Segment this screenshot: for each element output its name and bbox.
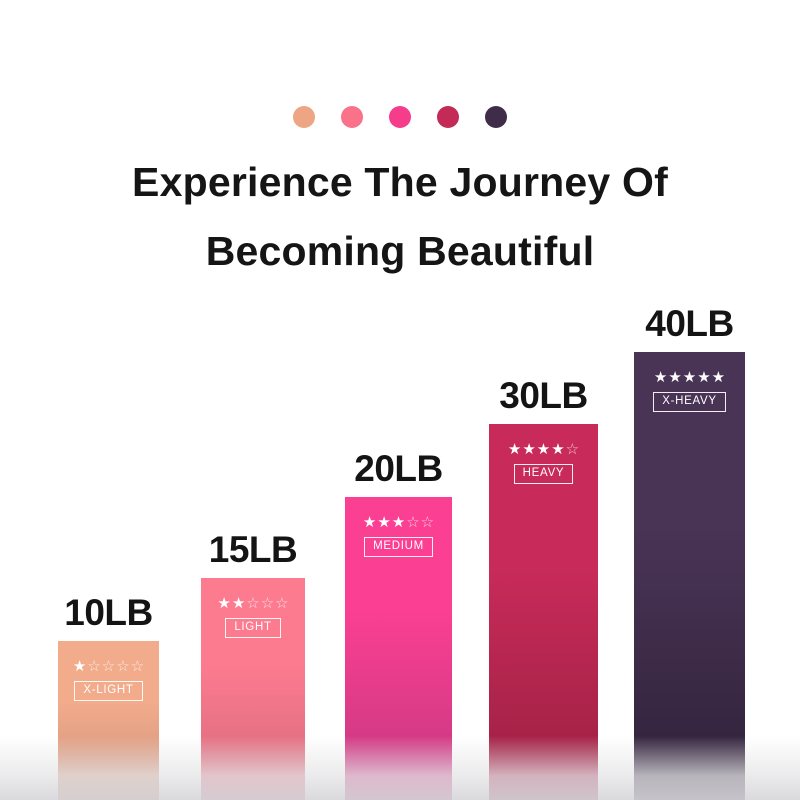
strength-badge: X-LIGHT (74, 681, 142, 701)
strength-badge: HEAVY (514, 464, 574, 484)
star-empty-icon: ☆ (421, 515, 434, 530)
bar-content: ★★★★★X-HEAVY (634, 370, 745, 412)
bar-20lb[interactable]: ★★★☆☆MEDIUM (345, 497, 452, 800)
bar-10lb[interactable]: ★☆☆☆☆X-LIGHT (58, 641, 159, 800)
star-filled-icon: ★ (217, 596, 230, 611)
star-filled-icon: ★ (508, 442, 521, 457)
star-empty-icon: ☆ (131, 659, 144, 674)
star-rating: ★★☆☆☆ (217, 596, 288, 611)
bar-content: ★★☆☆☆LIGHT (201, 596, 305, 638)
bar-value-label: 20LB (354, 450, 442, 487)
star-filled-icon: ★ (683, 370, 696, 385)
star-rating: ★★★☆☆ (363, 515, 434, 530)
star-rating: ★★★★☆ (508, 442, 579, 457)
star-empty-icon: ☆ (102, 659, 115, 674)
strength-badge: X-HEAVY (653, 392, 726, 412)
star-filled-icon: ★ (551, 442, 564, 457)
star-empty-icon: ☆ (87, 659, 100, 674)
star-filled-icon: ★ (654, 370, 667, 385)
bar-content: ★★★☆☆MEDIUM (345, 515, 452, 557)
promo-banner: Experience The Journey Of Becoming Beaut… (0, 0, 800, 800)
bar-content: ★★★★☆HEAVY (489, 442, 598, 484)
bar-content: ★☆☆☆☆X-LIGHT (58, 659, 159, 701)
star-filled-icon: ★ (712, 370, 725, 385)
strength-badge: MEDIUM (364, 537, 433, 557)
resistance-bar-chart: 10LB★☆☆☆☆X-LIGHT15LB★★☆☆☆LIGHT20LB★★★☆☆M… (0, 0, 800, 800)
bar-value-label: 40LB (645, 305, 733, 342)
star-empty-icon: ☆ (275, 596, 288, 611)
star-rating: ★★★★★ (654, 370, 725, 385)
bar-15lb[interactable]: ★★☆☆☆LIGHT (201, 578, 305, 800)
star-filled-icon: ★ (697, 370, 710, 385)
star-filled-icon: ★ (537, 442, 550, 457)
star-empty-icon: ☆ (261, 596, 274, 611)
star-filled-icon: ★ (232, 596, 245, 611)
star-empty-icon: ☆ (406, 515, 419, 530)
star-empty-icon: ☆ (246, 596, 259, 611)
star-filled-icon: ★ (392, 515, 405, 530)
star-rating: ★☆☆☆☆ (73, 659, 144, 674)
bar-30lb[interactable]: ★★★★☆HEAVY (489, 424, 598, 800)
bar-group: 10LB★☆☆☆☆X-LIGHT (58, 641, 159, 800)
star-filled-icon: ★ (73, 659, 86, 674)
bar-group: 20LB★★★☆☆MEDIUM (345, 497, 452, 800)
bar-group: 40LB★★★★★X-HEAVY (634, 352, 745, 800)
star-empty-icon: ☆ (116, 659, 129, 674)
star-filled-icon: ★ (668, 370, 681, 385)
bar-group: 15LB★★☆☆☆LIGHT (201, 578, 305, 800)
star-filled-icon: ★ (363, 515, 376, 530)
star-empty-icon: ☆ (566, 442, 579, 457)
bar-value-label: 30LB (499, 377, 587, 414)
star-filled-icon: ★ (377, 515, 390, 530)
bar-value-label: 15LB (209, 531, 297, 568)
star-filled-icon: ★ (522, 442, 535, 457)
bar-value-label: 10LB (64, 594, 152, 631)
strength-badge: LIGHT (225, 618, 280, 638)
bar-group: 30LB★★★★☆HEAVY (489, 424, 598, 800)
bar-40lb[interactable]: ★★★★★X-HEAVY (634, 352, 745, 800)
